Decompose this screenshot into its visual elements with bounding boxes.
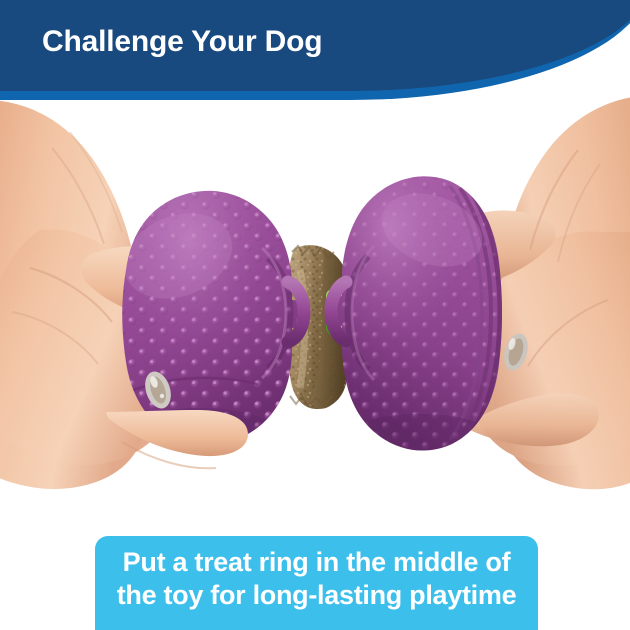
caption-banner: Put a treat ring in the middle of the to…: [95, 536, 538, 630]
page-title: Challenge Your Dog: [42, 22, 322, 62]
product-feature-image: Challenge Your Dog Put a treat ring in t…: [0, 0, 630, 630]
caption-text: Put a treat ring in the middle of the to…: [95, 546, 538, 612]
